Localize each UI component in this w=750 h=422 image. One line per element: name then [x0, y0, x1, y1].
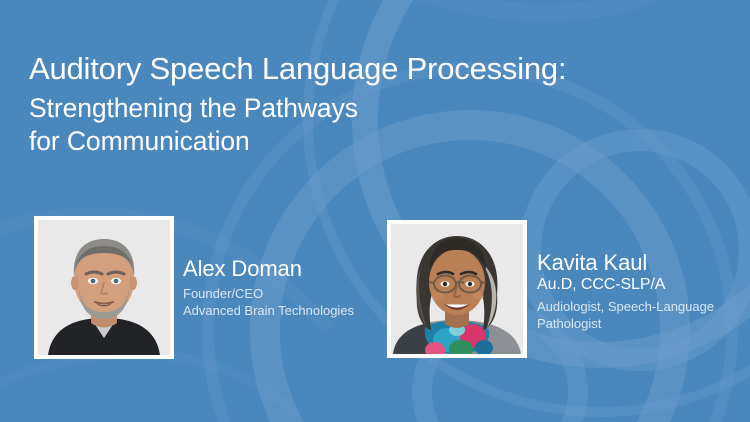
presenter-photo-frame	[34, 216, 174, 359]
presenter-name: Alex Doman	[183, 256, 354, 281]
portrait-illustration	[38, 220, 170, 355]
presenter-role-line-2: Advanced Brain Technologies	[183, 302, 354, 319]
presenter-role-line-2: Pathologist	[537, 315, 714, 332]
title-line-1: Auditory Speech Language Processing:	[29, 50, 729, 88]
presenter-info-kavita-kaul: Kavita Kaul Au.D, CCC-SLP/A Audiologist,…	[537, 250, 714, 332]
portrait-illustration	[391, 224, 523, 354]
presenter-role-line-1: Audiologist, Speech-Language	[537, 298, 714, 315]
presenter-photo-alex-doman	[38, 220, 170, 355]
presenter-name: Kavita Kaul	[537, 250, 714, 275]
presenter-credentials: Au.D, CCC-SLP/A	[537, 275, 714, 294]
title-line-3: for Communication	[29, 125, 729, 158]
presenter-role-line-1: Founder/CEO	[183, 285, 354, 302]
presentation-slide: Auditory Speech Language Processing: Str…	[0, 0, 750, 422]
slide-title-block: Auditory Speech Language Processing: Str…	[29, 50, 729, 158]
presenter-info-alex-doman: Alex Doman Founder/CEO Advanced Brain Te…	[183, 256, 354, 319]
presenter-photo-frame	[387, 220, 527, 358]
presenter-photo-kavita-kaul	[391, 224, 523, 354]
title-line-2: Strengthening the Pathways	[29, 92, 729, 125]
